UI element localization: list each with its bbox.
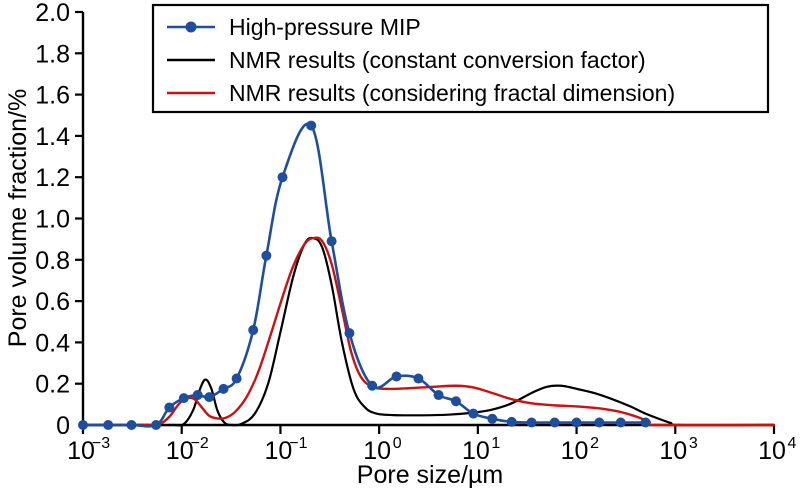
data-point-marker — [262, 251, 271, 260]
x-tick-exponent: 2 — [590, 435, 599, 452]
legend-entry-label: NMR results (considering fractal dimensi… — [229, 80, 675, 106]
data-point-marker — [127, 421, 136, 430]
data-point-marker — [249, 326, 258, 335]
data-point-marker — [595, 418, 604, 427]
data-point-marker — [392, 372, 401, 381]
x-tick-exponent: −1 — [289, 435, 307, 452]
data-point-marker — [616, 418, 625, 427]
x-tick-base: 10 — [758, 437, 786, 465]
data-point-marker — [414, 374, 423, 383]
data-point-marker — [307, 121, 316, 130]
legend[interactable]: High-pressure MIPNMR results (constant c… — [153, 5, 768, 112]
y-axis-tick-label: 1.4 — [35, 123, 70, 151]
data-point-marker — [152, 421, 161, 430]
y-axis-tick-label: 0 — [56, 412, 70, 440]
data-point-marker — [368, 381, 377, 390]
data-point-marker — [527, 418, 536, 427]
x-tick-exponent: −2 — [191, 435, 209, 452]
x-tick-exponent: −3 — [92, 435, 110, 452]
data-point-marker — [179, 394, 188, 403]
data-point-marker — [205, 393, 214, 402]
data-point-marker — [488, 414, 497, 423]
x-tick-exponent: 1 — [491, 435, 500, 452]
data-point-marker — [104, 421, 113, 430]
data-point-marker — [278, 173, 287, 182]
x-tick-exponent: 4 — [788, 435, 797, 452]
y-axis-tick-label: 0.8 — [35, 247, 70, 275]
data-point-marker — [451, 397, 460, 406]
y-axis-tick-label: 1.8 — [35, 40, 70, 68]
pore-size-distribution-chart: 00.20.40.60.81.01.21.41.61.82.0 10−310−2… — [0, 0, 800, 491]
y-axis-tick-label: 0.2 — [35, 371, 70, 399]
legend-entry-label: NMR results (constant conversion factor) — [229, 47, 646, 73]
data-point-marker — [193, 391, 202, 400]
x-tick-base: 10 — [561, 437, 589, 465]
x-axis-title: Pore size/µm — [357, 461, 503, 489]
data-point-marker — [79, 421, 88, 430]
y-axis-tick-label: 0.4 — [35, 329, 70, 357]
y-axis-tick-label: 1.6 — [35, 82, 70, 110]
x-tick-exponent: 0 — [393, 435, 402, 452]
y-axis-tick-label: 2.0 — [35, 0, 70, 27]
legend-entry-3[interactable]: NMR results (considering fractal dimensi… — [167, 80, 675, 106]
data-point-marker — [345, 329, 354, 338]
y-axis-tick-label: 0.6 — [35, 288, 70, 316]
x-tick-base: 10 — [265, 437, 293, 465]
x-tick-base: 10 — [659, 437, 687, 465]
data-point-marker — [550, 418, 559, 427]
chart-figure: 00.20.40.60.81.01.21.41.61.82.0 10−310−2… — [0, 0, 800, 491]
y-axis-tick-label: 1.2 — [35, 164, 70, 192]
y-axis-title: Pore volume fraction/% — [4, 89, 32, 347]
data-point-marker — [572, 418, 581, 427]
data-point-marker — [434, 391, 443, 400]
x-tick-base: 10 — [166, 437, 194, 465]
y-axis-tick-label: 1.0 — [35, 206, 70, 234]
data-point-marker — [165, 403, 174, 412]
data-point-marker — [232, 374, 241, 383]
data-point-marker — [641, 418, 650, 427]
legend-swatch-marker — [186, 22, 197, 33]
data-point-marker — [469, 409, 478, 418]
legend-entry-2[interactable]: NMR results (constant conversion factor) — [167, 47, 646, 73]
x-tick-base: 10 — [67, 437, 95, 465]
data-point-marker — [507, 417, 516, 426]
legend-entry-label: High-pressure MIP — [229, 14, 421, 40]
data-point-marker — [327, 237, 336, 246]
x-tick-exponent: 3 — [689, 435, 698, 452]
data-point-marker — [219, 384, 228, 393]
